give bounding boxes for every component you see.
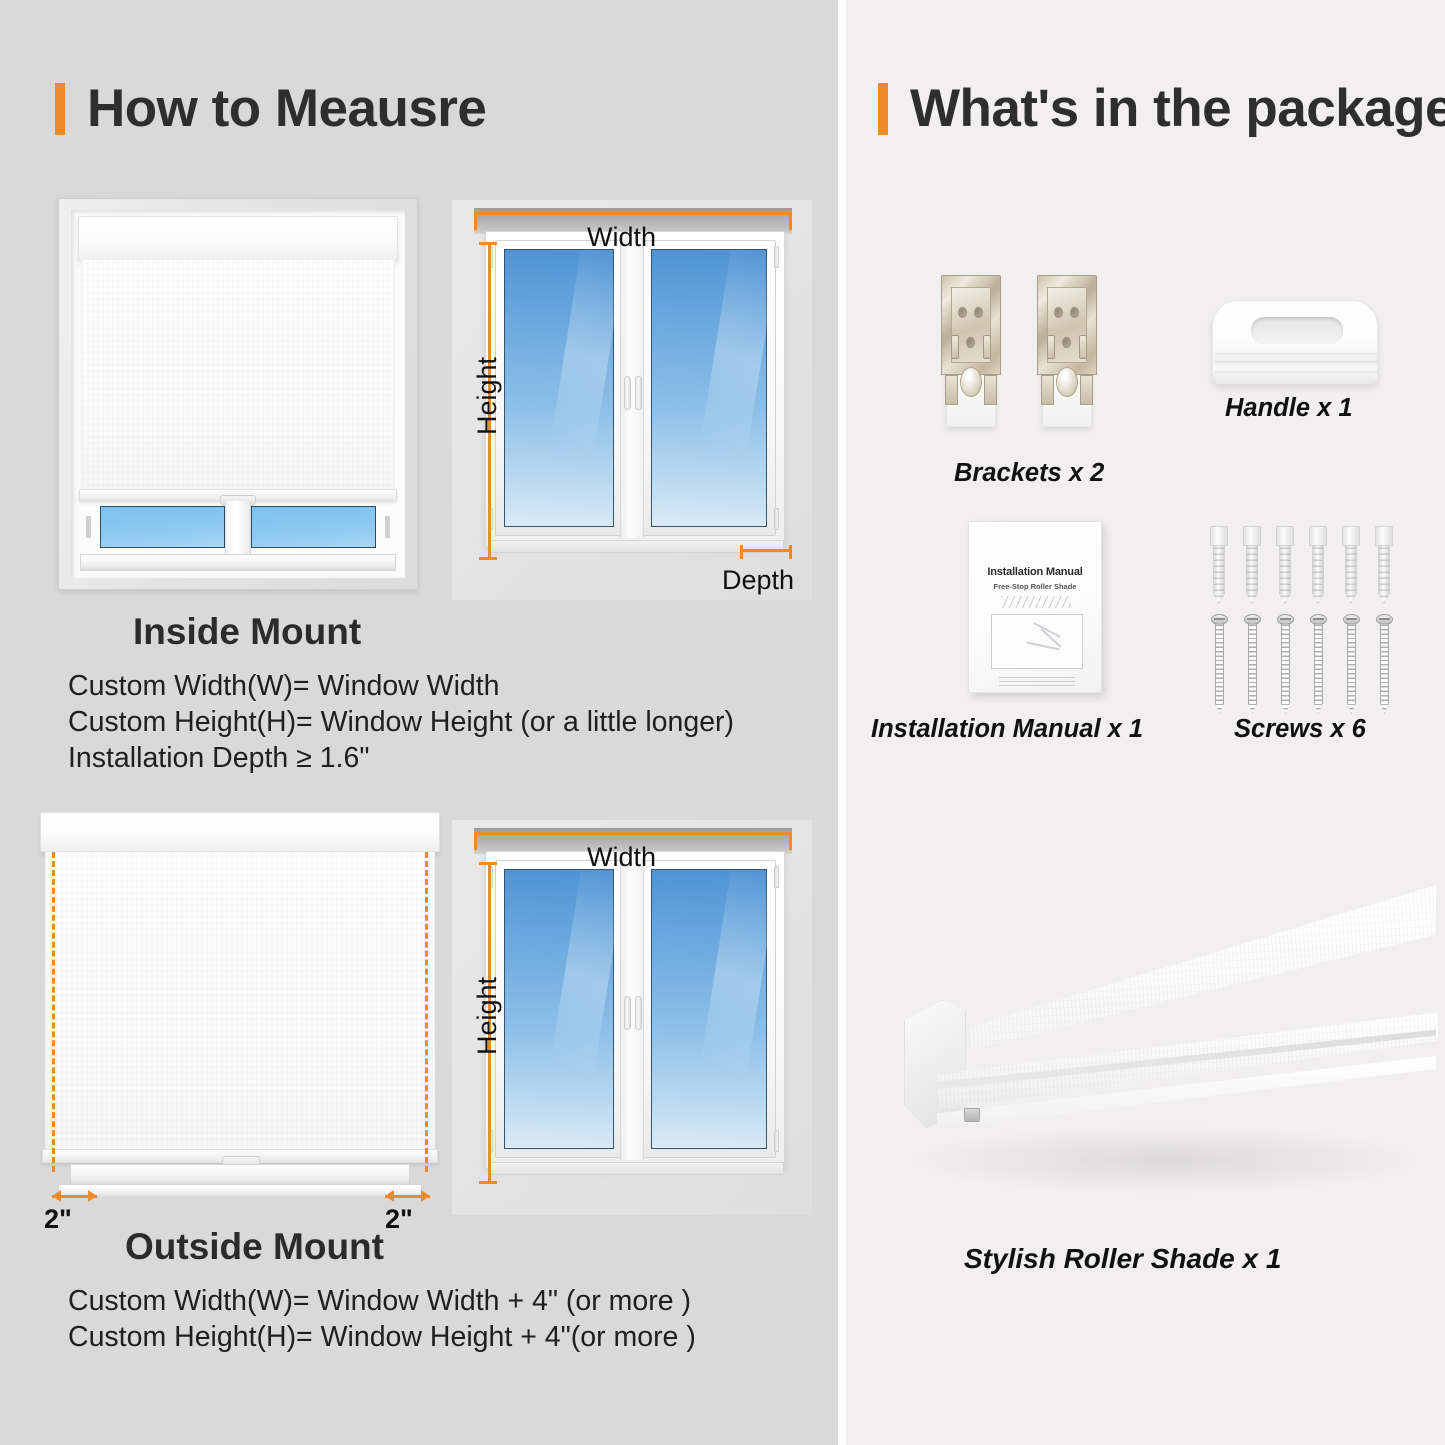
installation-manual-label: Installation Manual x 1 [871, 715, 1143, 744]
how-to-measure-panel: How to Meausre [0, 0, 838, 1445]
roller-shade-image [866, 860, 1436, 1210]
manual-decor-lines [1001, 596, 1071, 608]
outside-window-sill-bottom [58, 1184, 422, 1198]
outside-mount-shade-illustration: 2" 2" [40, 812, 440, 1212]
overhang-label-right: 2" [385, 1204, 413, 1235]
window-handle-left-2 [624, 996, 631, 1030]
inside-mount-line-1: Custom Width(W)= Window Width [68, 668, 734, 704]
how-to-measure-heading: How to Meausre [55, 78, 486, 139]
wall-anchor-3 [1276, 526, 1294, 604]
installation-manual-image: Installation Manual Free-Stop Roller Sha… [968, 521, 1108, 701]
window-pane-left-2 [504, 869, 614, 1149]
handle-body [1212, 300, 1378, 384]
brackets-label: Brackets x 2 [954, 459, 1104, 488]
window-hinge-3 [774, 246, 779, 268]
brackets-image [941, 275, 1131, 445]
window-glass-right [251, 506, 376, 548]
window-pane-right [651, 249, 767, 527]
screws-image [1210, 526, 1400, 701]
wall-anchor-2 [1243, 526, 1261, 604]
manual-cover: Installation Manual Free-Stop Roller Sha… [968, 521, 1102, 693]
handle-image [1212, 300, 1382, 390]
manual-cover-title: Installation Manual [969, 566, 1101, 578]
overhang-arrow-right [385, 1190, 430, 1202]
overhang-guide-right [425, 852, 428, 1172]
window-pane-right-2 [651, 869, 767, 1149]
width-measure-line [474, 212, 792, 215]
width-cap-right-2 [789, 832, 792, 850]
window-hinge-4 [774, 508, 779, 530]
shade-fabric [81, 260, 395, 492]
shade-end-tab [964, 1108, 980, 1122]
package-contents-panel: What's in the package [846, 0, 1445, 1445]
window-sill [80, 554, 396, 571]
width-label: Width [587, 222, 656, 253]
screw-1 [1211, 614, 1228, 714]
package-heading: What's in the package [878, 78, 1445, 139]
window-mullion [225, 501, 251, 561]
outside-window-sill-top [70, 1164, 410, 1186]
manual-figure-box [991, 614, 1083, 669]
screw-5 [1343, 614, 1360, 714]
screw-6 [1376, 614, 1393, 714]
outside-shade-headrail [40, 812, 440, 852]
how-to-measure-title: How to Meausre [87, 78, 486, 139]
overhang-label-left: 2" [44, 1204, 72, 1235]
bracket-1 [941, 275, 1001, 427]
accent-bar-icon-2 [878, 83, 888, 135]
package-title: What's in the package [910, 78, 1445, 139]
width-label-2: Width [587, 842, 656, 873]
overhang-guide-left [52, 852, 55, 1172]
roller-shade-label: Stylish Roller Shade x 1 [964, 1243, 1281, 1275]
outside-shade-fabric [45, 852, 435, 1152]
depth-measure-line [740, 549, 792, 552]
shade-headrail [78, 216, 398, 261]
manual-cover-subtitle: Free-Stop Roller Shade [969, 582, 1101, 591]
depth-cap-right [789, 545, 792, 559]
height-cap-top-2 [479, 862, 497, 865]
outside-mount-line-2: Custom Height(H)= Window Height + 4"(or … [68, 1319, 696, 1355]
width-cap-left-2 [474, 832, 477, 850]
inside-mount-window-diagram: Width Height Depth [452, 200, 812, 600]
window-handle-right-2 [635, 996, 642, 1030]
inside-mount-shade-illustration [58, 198, 418, 590]
width-cap-left [474, 212, 477, 230]
window-pane-left [504, 249, 614, 527]
outside-mount-window-diagram: Width Height [452, 820, 812, 1215]
window-bottom-sill-2 [488, 1162, 784, 1175]
depth-label: Depth [722, 565, 794, 596]
bracket-2 [1037, 275, 1097, 427]
width-measure-line-2 [474, 832, 792, 835]
height-cap-bottom-2 [479, 1181, 497, 1184]
manual-footer-lines [999, 674, 1075, 686]
screws-label: Screws x 6 [1234, 715, 1366, 744]
height-cap-top [479, 242, 497, 245]
inside-mount-title: Inside Mount [133, 611, 361, 653]
accent-bar-icon [55, 83, 65, 135]
panel-divider [838, 0, 846, 1445]
window-latch-right [385, 516, 390, 538]
window-handle-left [624, 376, 631, 410]
screw-2 [1244, 614, 1261, 714]
wall-anchor-6 [1375, 526, 1393, 604]
height-label-2: Height [472, 977, 503, 1055]
handle-grip-slot [1251, 317, 1343, 344]
depth-cap-left [740, 545, 743, 559]
wall-anchor-5 [1342, 526, 1360, 604]
wall-anchor-4 [1309, 526, 1327, 604]
screw-3 [1277, 614, 1294, 714]
window-hinge-7 [774, 866, 779, 888]
outside-mount-title: Outside Mount [125, 1226, 384, 1268]
height-label: Height [472, 357, 503, 435]
inside-mount-line-3: Installation Depth ≥ 1.6" [68, 740, 734, 776]
overhang-arrow-left [52, 1190, 97, 1202]
inside-mount-line-2: Custom Height(H)= Window Height (or a li… [68, 704, 734, 740]
window-glass-left [100, 506, 225, 548]
outside-mount-text: Custom Width(W)= Window Width + 4" (or m… [68, 1283, 696, 1355]
height-cap-bottom [479, 557, 497, 560]
window-latch-left [86, 516, 91, 538]
screw-4 [1310, 614, 1327, 714]
inside-mount-text: Custom Width(W)= Window Width Custom Hei… [68, 668, 734, 776]
outside-mount-line-1: Custom Width(W)= Window Width + 4" (or m… [68, 1283, 696, 1319]
window-handle-right [635, 376, 642, 410]
infographic-page: How to Meausre [0, 0, 1445, 1445]
wall-anchor-1 [1210, 526, 1228, 604]
handle-label: Handle x 1 [1225, 394, 1353, 423]
window-hinge-8 [774, 1130, 779, 1152]
width-cap-right [789, 212, 792, 230]
